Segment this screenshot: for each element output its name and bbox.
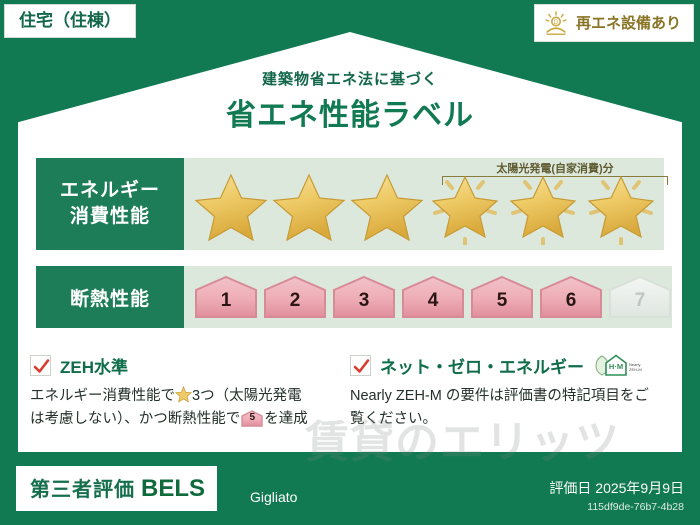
zeh-standard-body: エネルギー消費性能で3つ（太陽光発電 は考慮しない）、かつ断熱性能で5を達成 — [30, 385, 334, 432]
insulation-grade-value: 4 — [428, 290, 439, 319]
energy-performance-label: 住宅（住棟） D 再エネ設備あり 建築物省エネ法に基づく 省エネ性能ラベル — [0, 0, 700, 525]
svg-text:D: D — [554, 20, 559, 26]
net-zero-title: ネット・ゼロ・エネルギー — [380, 353, 584, 378]
zeh-body-star-count: 3つ（太陽光発電 — [192, 388, 302, 404]
gold-star-icon — [511, 177, 575, 237]
insulation-grade-badge-1: 1 — [194, 275, 258, 319]
inline-grade-value: 5 — [241, 410, 263, 427]
claim-zeh-standard: ZEH水準 エネルギー消費性能で3つ（太陽光発電 は考慮しない）、かつ断熱性能で… — [30, 352, 350, 432]
energy-label-line-2: 消費性能 — [70, 204, 150, 230]
insulation-performance-row: 断熱性能 1 — [36, 266, 664, 328]
dwelling-type-label: 住宅（住棟） — [19, 11, 121, 30]
property-name: Gigliato — [250, 489, 297, 505]
zeh-body-pre: エネルギー消費性能で — [30, 388, 175, 404]
evaluation-meta: 評価日 2025年9月9日 115df9de-76b7-4b28 — [549, 478, 684, 513]
bels-logo-text: BELS — [141, 475, 205, 503]
gold-star-icon — [192, 169, 270, 245]
evaluation-date-value: 2025年9月9日 — [595, 480, 684, 496]
dwelling-type-chip: 住宅（住棟） — [4, 4, 136, 38]
energy-performance-row: エネルギー 消費性能 太陽光発電(自家消費)分 — [36, 158, 664, 250]
evaluation-date-label: 評価日 — [549, 480, 591, 496]
evaluation-date: 評価日 2025年9月9日 — [549, 478, 684, 498]
energy-star-4 — [426, 163, 504, 245]
zeh-standard-title: ZEH水準 — [60, 353, 128, 378]
insulation-grade-badge-7: 7 — [608, 275, 672, 319]
label-subtitle: 建築物省エネ法に基づく — [0, 68, 700, 89]
evaluation-id: 115df9de-76b7-4b28 — [549, 501, 684, 513]
page-title: 省エネ性能ラベル — [0, 90, 700, 134]
svg-text:H·M: H·M — [609, 362, 623, 371]
inline-gold-star-icon — [175, 386, 192, 403]
zeh-body-post: を達成 — [264, 411, 308, 427]
inline-grade-badge: 5 — [241, 410, 263, 427]
insulation-grade-badge-5: 5 — [470, 275, 534, 319]
energy-star-5 — [504, 163, 582, 245]
insulation-grade-value: 6 — [566, 290, 577, 319]
nearly-zeh-m-house-logo: H·M Nearly ZEH-M — [593, 352, 647, 378]
insulation-grade-value: 1 — [221, 290, 232, 319]
zeh-body-mid: は考慮しない）、かつ断熱性能で — [30, 411, 240, 427]
energy-star-1 — [192, 163, 270, 245]
insulation-grade-value: 3 — [359, 290, 370, 319]
red-check-icon — [33, 358, 50, 375]
insulation-grade-badge-2: 2 — [263, 275, 327, 319]
claim-zeh-standard-header: ZEH水準 — [30, 352, 334, 378]
insulation-performance-label-box: 断熱性能 — [36, 266, 184, 328]
insulation-grade-badge-3: 3 — [332, 275, 396, 319]
insulation-grade-value: 5 — [497, 290, 508, 319]
solar-sun-icon: D — [543, 10, 569, 36]
energy-star-2 — [270, 163, 348, 245]
third-party-label: 第三者評価 — [30, 473, 135, 502]
energy-star-track: 太陽光発電(自家消費)分 — [184, 158, 664, 250]
net-zero-body: Nearly ZEH-M の要件は評価書の特記項目をご覧ください。 — [350, 385, 654, 432]
energy-performance-label-box: エネルギー 消費性能 — [36, 158, 184, 250]
red-check-icon — [353, 358, 370, 375]
gold-star-icon — [589, 177, 653, 237]
third-party-evaluation-chip: 第三者評価 BELS — [16, 466, 217, 511]
net-zero-checkbox — [350, 355, 371, 376]
gold-star-icon — [348, 169, 426, 245]
claim-net-zero-header: ネット・ゼロ・エネルギー H·M Nearly ZEH-M — [350, 352, 654, 378]
claim-net-zero-energy: ネット・ゼロ・エネルギー H·M Nearly ZEH-M Nearly ZEH… — [350, 352, 670, 432]
insulation-grade-value: 2 — [290, 290, 301, 319]
zeh-standard-checkbox — [30, 355, 51, 376]
insulation-grade-badge-6: 6 — [539, 275, 603, 319]
renewable-equipment-badge: D 再エネ設備あり — [534, 4, 694, 42]
insulation-grade-value: 7 — [635, 290, 646, 319]
renewable-equipment-label: 再エネ設備あり — [576, 16, 681, 31]
insulation-label: 断熱性能 — [70, 284, 150, 311]
energy-label-line-1: エネルギー — [60, 178, 160, 204]
svg-text:ZEH-M: ZEH-M — [629, 367, 642, 372]
energy-star-3 — [348, 163, 426, 245]
insulation-grade-badge-4: 4 — [401, 275, 465, 319]
insulation-grade-track: 1 2 3 4 — [184, 266, 672, 328]
claims-section: ZEH水準 エネルギー消費性能で3つ（太陽光発電 は考慮しない）、かつ断熱性能で… — [30, 352, 670, 432]
gold-star-icon — [270, 169, 348, 245]
energy-star-6 — [582, 163, 660, 245]
gold-star-icon — [433, 177, 497, 237]
